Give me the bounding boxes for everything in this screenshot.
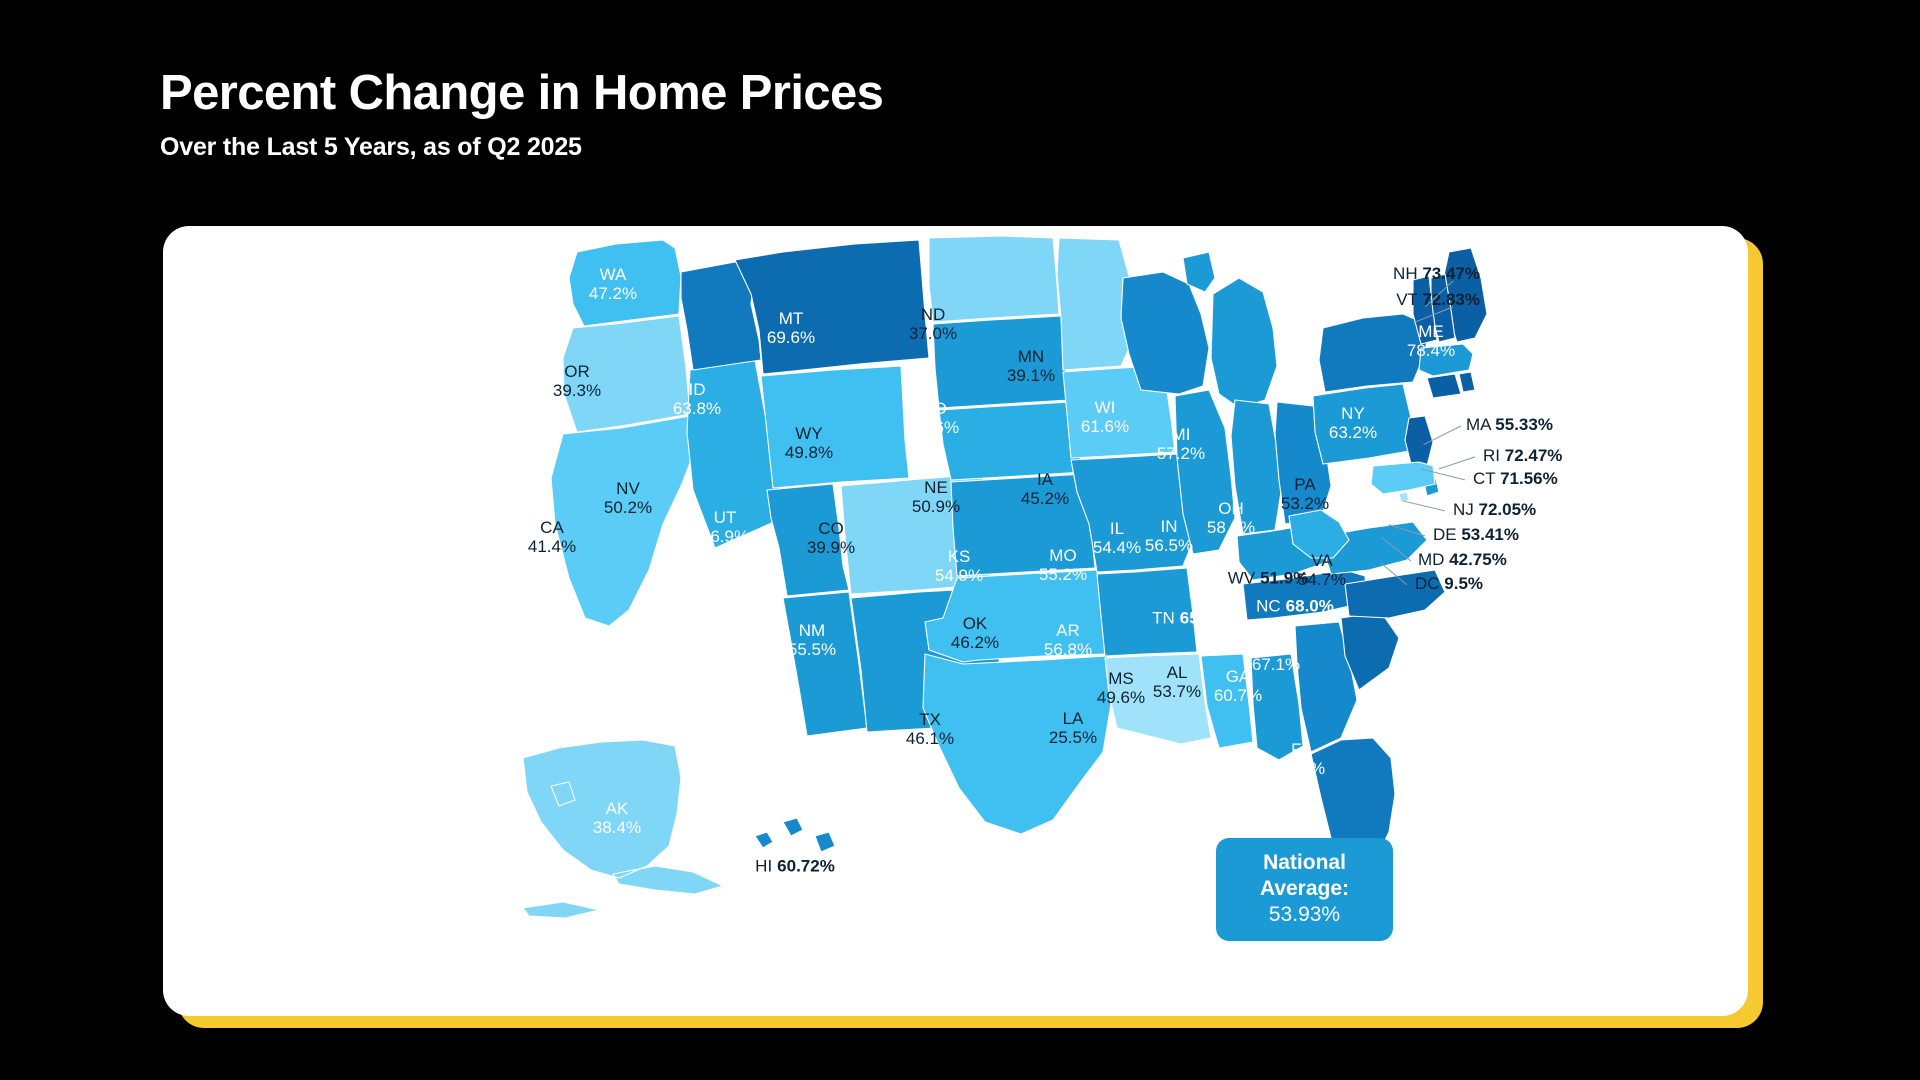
callout-label-nh: NH 73.47% (1393, 264, 1480, 284)
callout-label-ma: MA 55.33% (1466, 415, 1553, 435)
state-abbr: NH (1393, 264, 1422, 283)
callout-label-dc: DC 9.5% (1415, 574, 1483, 594)
state-wa[interactable] (569, 240, 681, 326)
badge-line-1: National (1263, 850, 1346, 876)
state-or[interactable] (563, 316, 690, 432)
state-hi[interactable] (755, 818, 835, 852)
state-abbr: RI (1483, 446, 1505, 465)
state-al[interactable] (1251, 654, 1303, 760)
state-in[interactable] (1231, 400, 1281, 534)
state-abbr: DC (1415, 574, 1444, 593)
state-ri[interactable] (1459, 372, 1475, 392)
callout-label-nj: NJ 72.05% (1453, 500, 1536, 520)
page-title: Percent Change in Home Prices (160, 68, 883, 120)
state-abbr: MD (1418, 550, 1449, 569)
map-card: National Average: 53.93% WA47.2%OR39.3%C… (163, 226, 1748, 1016)
state-ar[interactable] (1097, 568, 1197, 656)
state-ny[interactable] (1319, 314, 1431, 392)
state-abbr: DE (1433, 525, 1461, 544)
state-sd[interactable] (933, 316, 1069, 408)
state-value: 42.75% (1449, 550, 1507, 569)
callout-label-de: DE 53.41% (1433, 525, 1519, 545)
state-nd[interactable] (929, 236, 1059, 322)
state-ak[interactable] (523, 740, 723, 918)
state-tx[interactable] (923, 654, 1111, 834)
state-value: 72.47% (1505, 446, 1563, 465)
poster-root: Percent Change in Home Prices Over the L… (0, 0, 1920, 1080)
page-subtitle: Over the Last 5 Years, as of Q2 2025 (160, 133, 883, 162)
callout-label-ri: RI 72.47% (1483, 446, 1562, 466)
state-ma[interactable] (1419, 344, 1473, 376)
state-la[interactable] (1105, 654, 1211, 744)
state-abbr: NJ (1453, 500, 1479, 519)
state-abbr: CT (1473, 469, 1500, 488)
state-value: 71.56% (1500, 469, 1558, 488)
callout-label-md: MD 42.75% (1418, 550, 1507, 570)
state-abbr: MA (1466, 415, 1495, 434)
state-abbr: VT (1396, 290, 1422, 309)
callout-label-ct: CT 71.56% (1473, 469, 1558, 489)
state-ne[interactable] (939, 402, 1083, 480)
badge-value: 53.93% (1269, 902, 1340, 929)
state-pa[interactable] (1313, 384, 1415, 464)
national-average-badge: National Average: 53.93% (1216, 838, 1393, 941)
state-value: 9.5% (1444, 574, 1483, 593)
state-ut[interactable] (767, 484, 849, 596)
state-value: 53.41% (1461, 525, 1519, 544)
state-value: 55.33% (1495, 415, 1553, 434)
header: Percent Change in Home Prices Over the L… (160, 68, 883, 162)
state-value: 72.05% (1479, 500, 1537, 519)
state-ks[interactable] (951, 474, 1095, 576)
state-mt[interactable] (735, 240, 929, 374)
badge-line-2: Average: (1260, 876, 1349, 902)
state-wy[interactable] (761, 366, 909, 488)
choropleth-map: National Average: 53.93% WA47.2%OR39.3%C… (163, 226, 1748, 1016)
state-ca[interactable] (551, 416, 695, 626)
state-ct[interactable] (1427, 374, 1461, 398)
